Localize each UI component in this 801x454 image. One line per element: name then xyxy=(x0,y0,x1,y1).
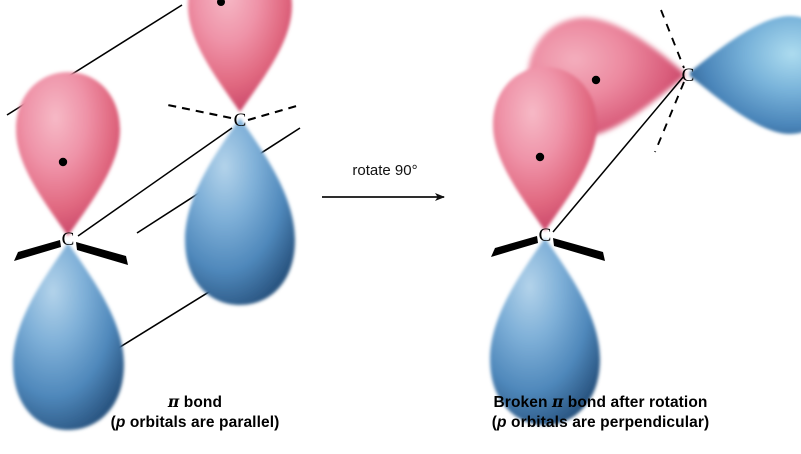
caption-left-line1: π bond xyxy=(168,394,222,411)
dashed-bonds-back-carbon xyxy=(163,104,300,120)
carbon-label-back-left-panel: C xyxy=(234,110,247,131)
pi-bond-rotation-figure: C C xyxy=(0,0,801,454)
wedge-bond-right xyxy=(76,242,128,265)
carbon-front-orbital-left-panel: C xyxy=(13,72,128,430)
caption-right-line2: (p orbitals are perpendicular) xyxy=(400,413,801,433)
carbon-front-orbital-right-panel: C xyxy=(490,67,605,425)
carbon-back-orbital-left-panel: C xyxy=(163,0,300,305)
carbon-label-front-left-panel: C xyxy=(62,229,75,250)
wedge-bond-right-right-panel xyxy=(553,238,605,261)
pink-lobe-front-carbon xyxy=(16,72,120,236)
node-dot-front-carbon-right xyxy=(536,153,544,161)
rotate-arrow-label: rotate 90° xyxy=(320,162,450,179)
caption-left-line2: (p orbitals are parallel) xyxy=(0,413,390,433)
caption-left-panel: π bond (p orbitals are parallel) xyxy=(0,392,390,433)
carbon-label-front-right-panel: C xyxy=(539,225,552,246)
wedge-bond-left-right-panel xyxy=(491,236,538,257)
dashed-bond-left xyxy=(163,104,231,118)
pink-lobe-front-carbon-right xyxy=(493,67,597,231)
panel-left-pi-bond: C C xyxy=(7,0,300,430)
pink-lobe-back-carbon xyxy=(188,0,292,112)
wedge-bond-left xyxy=(14,240,61,261)
dashed-bond-right xyxy=(248,105,300,120)
caption-right-line1: Broken π bond after rotation xyxy=(494,394,708,411)
panel-right-broken-pi-bond: C C xyxy=(490,10,801,425)
node-dot-front-carbon xyxy=(59,158,67,166)
node-dot-back-carbon-right xyxy=(592,76,600,84)
blue-lobe-back-carbon-right xyxy=(690,16,801,134)
blue-lobe-back-carbon xyxy=(185,118,295,305)
caption-right-panel: Broken π bond after rotation (p orbitals… xyxy=(400,392,801,433)
carbon-label-back-right-panel: C xyxy=(682,65,695,86)
